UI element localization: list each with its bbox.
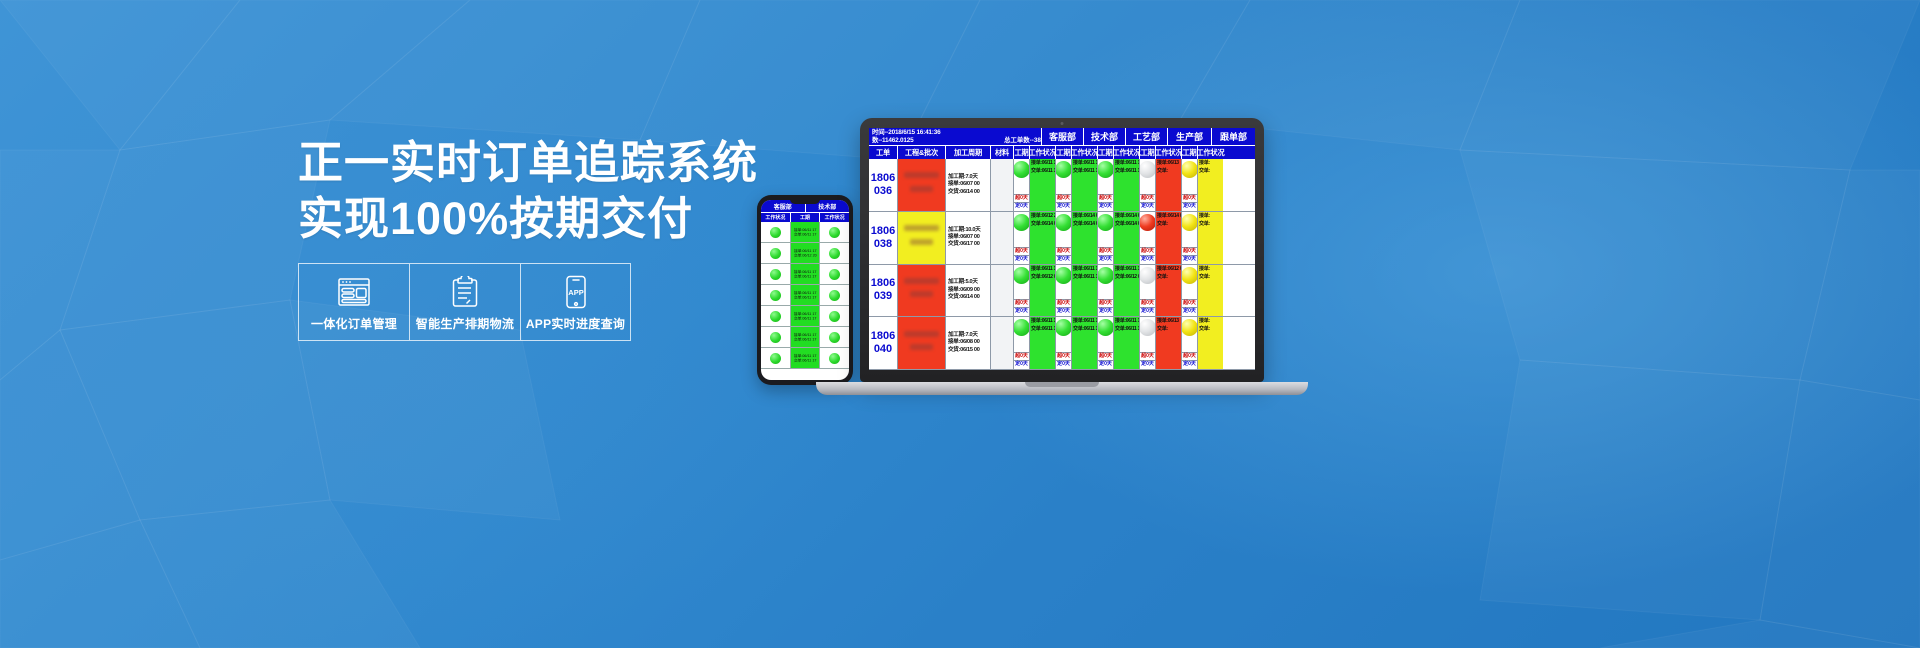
order-number-cell: 1806036	[869, 159, 897, 211]
table-row[interactable]: 1806036加工期:7.0天接单:06/07 00交货:06/14 00超0天…	[869, 159, 1255, 212]
status-dot	[829, 311, 840, 322]
feature-item-production-scheduling[interactable]: 智能生产排期物流	[409, 263, 520, 341]
work-deliver: 交单:06/12 09	[1031, 274, 1054, 281]
clipboard-checklist-icon	[450, 275, 480, 309]
phone-status-cell-2	[820, 327, 849, 348]
project-batch-cell	[897, 265, 945, 317]
work-status-cell-生产部: 接单:06/12 09交单:	[1155, 265, 1181, 317]
fixed-days-tag: 定0天	[1014, 255, 1029, 263]
status-dot	[770, 311, 781, 322]
work-status-cell-技术部: 接单:06/11 17交单:06/11 17	[1071, 317, 1097, 369]
fixed-days-tag: 定0天	[1182, 307, 1197, 315]
material-cell	[990, 317, 1013, 369]
feature-label: 智能生产排期物流	[416, 315, 514, 332]
work-receive: 接单:06/14 04	[1115, 213, 1138, 220]
receive-date: 接单:06/08 00	[948, 339, 990, 346]
work-receive: 接单:06/12 20	[1031, 213, 1054, 220]
phone-screen: 客服部 技术部 工作状况 工期 工作状况 接单:06/11 17交单:06/11…	[761, 200, 849, 380]
status-indicator-yellow	[1181, 161, 1197, 178]
work-receive: 接单:06/11 17	[1073, 266, 1096, 273]
status-tags: 超0天定0天	[1140, 247, 1155, 263]
webcam-icon	[1061, 122, 1064, 125]
status-cell-工艺部: 超0天定0天	[1097, 265, 1113, 317]
work-status-cell-生产部: 接单:06/13交单:	[1155, 159, 1181, 211]
work-deliver: 交单:06/12 09	[1115, 274, 1138, 281]
phone-col-0: 工作状况	[761, 212, 791, 222]
work-deliver: 交单:	[1199, 326, 1222, 333]
fixed-days-tag: 定0天	[1056, 202, 1071, 210]
table-row[interactable]: 1806038加工期:10.0天接单:06/07 00交货:06/17 00超0…	[869, 212, 1255, 265]
status-indicator-green	[1055, 161, 1071, 178]
column-header-技术部-工作状况: 工作状况	[1071, 146, 1097, 159]
work-status-cell-生产部: 接单:06/14 06交单:	[1155, 212, 1181, 264]
dashboard-grid-body: 1806036加工期:7.0天接单:06/07 00交货:06/14 00超0天…	[869, 159, 1255, 370]
laptop-screen: 时间--2018/6/15 16:41:36 数--11462.0125 总工单…	[869, 128, 1255, 370]
project-batch-cell	[897, 212, 945, 264]
department-title-3: 生产部	[1167, 128, 1211, 145]
work-receive: 接单:06/14 06	[1157, 213, 1180, 220]
processing-cycle-cell: 加工期:7.0天接单:06/07 00交货:06/14 00	[945, 159, 990, 211]
status-tags: 超0天定0天	[1098, 299, 1113, 315]
status-tags: 超0天定0天	[1056, 352, 1071, 368]
status-dot	[770, 332, 781, 343]
status-cell-技术部: 超0天定0天	[1055, 212, 1071, 264]
work-receive: 接单:06/12 09	[1157, 266, 1180, 273]
over-days-tag: 超0天	[1014, 247, 1029, 255]
dashboard-column-headers: 工单工程&批次加工周期材料工期工作状况工期工作状况工期工作状况工期工作状况工期工…	[869, 145, 1255, 159]
over-days-tag: 超0天	[1140, 299, 1155, 307]
work-deliver: 交单:06/11 17	[1073, 326, 1096, 333]
phone-period-cell: 接单:06/11 17交单:06/12 20	[791, 243, 820, 264]
status-tags: 超0天定0天	[1182, 299, 1197, 315]
over-days-tag: 超0天	[1140, 352, 1155, 360]
phone-period-cell: 接单:06/11 17交单:06/11 17	[791, 264, 820, 285]
dashboard-total-wrap: 总工单数--38	[1004, 128, 1041, 145]
dashboard-meta: 时间--2018/6/15 16:41:36 数--11462.0125	[869, 128, 1004, 145]
fixed-days-tag: 定0天	[1140, 255, 1155, 263]
redacted-text	[910, 239, 933, 245]
work-deliver: 交单:	[1157, 274, 1180, 281]
work-deliver: 交单:	[1199, 168, 1222, 175]
feature-item-order-management[interactable]: 一体化订单管理	[298, 263, 409, 341]
status-cell-生产部: 超0天定0天	[1139, 212, 1155, 264]
status-indicator-green	[1097, 161, 1113, 178]
phone-note: 接单:06/11 17交单:06/11 17	[794, 332, 816, 341]
work-receive: 接单:06/11 17	[1031, 160, 1054, 167]
fixed-days-tag: 定0天	[1098, 202, 1113, 210]
work-deliver: 交单:	[1157, 168, 1180, 175]
material-cell	[990, 265, 1013, 317]
phone-note: 接单:06/11 17交单:06/11 17	[794, 269, 816, 278]
work-receive: 接单:06/13	[1157, 160, 1180, 167]
phone-status-cell	[761, 222, 790, 243]
fixed-days-tag: 定0天	[1014, 202, 1029, 210]
phone-period-cell: 接单:06/11 17交单:06/11 17	[791, 285, 820, 306]
column-header-工单: 工单	[869, 146, 897, 159]
status-cell-跟单部: 超0天定0天	[1181, 212, 1197, 264]
work-status-cell-跟单部: 接单:交单:	[1197, 212, 1223, 264]
status-indicator-gray	[1139, 319, 1155, 336]
work-receive: 接单:	[1199, 318, 1222, 325]
fixed-days-tag: 定0天	[1182, 360, 1197, 368]
status-cell-客服部: 超0天定0天	[1013, 212, 1029, 264]
status-tags: 超0天定0天	[1056, 247, 1071, 263]
fixed-days-tag: 定0天	[1098, 307, 1113, 315]
work-deliver: 交单:06/11 17	[1073, 274, 1096, 281]
table-row[interactable]: 1806039加工期:5.0天接单:06/09 00交货:06/14 00超0天…	[869, 265, 1255, 318]
work-status-cell-工艺部: 接单:06/11 17交单:06/11 17	[1113, 317, 1139, 369]
status-tags: 超0天定0天	[1014, 247, 1029, 263]
processing-cycle-cell: 加工期:5.0天接单:06/09 00交货:06/14 00	[945, 265, 990, 317]
over-days-tag: 超0天	[1098, 247, 1113, 255]
cycle-days: 加工期:5.0天	[948, 279, 990, 286]
status-cell-客服部: 超0天定0天	[1013, 317, 1029, 369]
status-cell-客服部: 超0天定0天	[1013, 159, 1029, 211]
mobile-app-icon: APP	[564, 275, 588, 309]
work-receive: 接单:06/11 17	[1073, 318, 1096, 325]
receive-date: 接单:06/09 00	[948, 287, 990, 294]
phone-status-cell	[761, 348, 790, 369]
status-dot	[770, 248, 781, 259]
status-indicator-green	[1013, 161, 1029, 178]
phone-status-column	[761, 222, 791, 369]
order-number-bottom: 039	[874, 290, 892, 303]
redacted-text	[904, 278, 939, 284]
fixed-days-tag: 定0天	[1056, 360, 1071, 368]
phone-note: 接单:06/11 17交单:06/11 17	[794, 227, 816, 236]
status-indicator-yellow	[1181, 267, 1197, 284]
status-dot	[770, 269, 781, 280]
status-dot	[770, 227, 781, 238]
over-days-tag: 超0天	[1056, 247, 1071, 255]
status-indicator-green	[1013, 214, 1029, 231]
fixed-days-tag: 定0天	[1056, 307, 1071, 315]
work-status-cell-客服部: 接单:06/11 17交单:06/11 17	[1029, 317, 1055, 369]
phone-status-cell	[761, 285, 790, 306]
phone-notch	[790, 199, 820, 204]
order-number-bottom: 036	[874, 185, 892, 198]
column-header-生产部-工期: 工期	[1139, 146, 1155, 159]
over-days-tag: 超0天	[1056, 352, 1071, 360]
status-dot	[829, 227, 840, 238]
status-tags: 超0天定0天	[1014, 194, 1029, 210]
cycle-days: 加工期:10.0天	[948, 227, 990, 234]
redacted-text	[910, 291, 933, 297]
status-dot	[829, 353, 840, 364]
work-receive: 接单:06/11 17	[1031, 318, 1054, 325]
feature-label: APP实时进度查询	[526, 315, 625, 332]
status-cell-生产部: 超0天定0天	[1139, 265, 1155, 317]
status-indicator-green	[1097, 267, 1113, 284]
redacted-text	[904, 225, 939, 231]
phone-status-cell-2	[820, 264, 849, 285]
status-tags: 超0天定0天	[1140, 194, 1155, 210]
column-header-客服部-工作状况: 工作状况	[1029, 146, 1055, 159]
column-header-跟单部-工作状况: 工作状况	[1197, 146, 1223, 159]
work-receive: 接单:06/13	[1157, 318, 1180, 325]
status-indicator-green	[1055, 319, 1071, 336]
work-deliver: 交单:06/14 06	[1115, 221, 1138, 228]
redacted-text	[904, 331, 939, 337]
phone-status-cell-2	[820, 306, 849, 327]
status-cell-工艺部: 超0天定0天	[1097, 212, 1113, 264]
status-indicator-red	[1139, 214, 1155, 231]
status-tags: 超0天定0天	[1098, 194, 1113, 210]
work-deliver: 交单:06/11 17	[1031, 168, 1054, 175]
status-cell-技术部: 超0天定0天	[1055, 159, 1071, 211]
department-title-1: 技术部	[1083, 128, 1125, 145]
phone-status-cell	[761, 243, 790, 264]
feature-label: 一体化订单管理	[311, 315, 397, 332]
work-status-cell-工艺部: 接单:06/14 04交单:06/14 06	[1113, 212, 1139, 264]
phone-period-cell: 接单:06/11 17交单:06/11 17	[791, 306, 820, 327]
work-deliver: 交单:06/11 17	[1031, 326, 1054, 333]
work-receive: 接单:06/11 17	[1115, 266, 1138, 273]
work-receive: 接单:	[1199, 213, 1222, 220]
work-status-cell-技术部: 接单:06/14 00交单:06/14 04	[1071, 212, 1097, 264]
phone-column-header: 工作状况 工期 工作状况	[761, 212, 849, 222]
work-receive: 接单:06/11 17	[1115, 160, 1138, 167]
laptop-mockup: 时间--2018/6/15 16:41:36 数--11462.0125 总工单…	[860, 118, 1308, 395]
over-days-tag: 超0天	[1014, 194, 1029, 202]
fixed-days-tag: 定0天	[1056, 255, 1071, 263]
status-cell-技术部: 超0天定0天	[1055, 265, 1071, 317]
material-cell	[990, 159, 1013, 211]
fixed-days-tag: 定0天	[1014, 360, 1029, 368]
status-tags: 超0天定0天	[1182, 352, 1197, 368]
work-receive: 接单:06/11 17	[1073, 160, 1096, 167]
fixed-days-tag: 定0天	[1098, 360, 1113, 368]
over-days-tag: 超0天	[1014, 352, 1029, 360]
status-tags: 超0天定0天	[1098, 247, 1113, 263]
redacted-text	[910, 186, 933, 192]
status-indicator-green	[1055, 214, 1071, 231]
work-status-cell-工艺部: 接单:06/11 17交单:06/11 17	[1113, 159, 1139, 211]
phone-col-2: 工作状况	[820, 212, 849, 222]
fixed-days-tag: 定0天	[1098, 255, 1113, 263]
work-status-cell-生产部: 接单:06/13交单:	[1155, 317, 1181, 369]
status-dot	[829, 332, 840, 343]
status-dot	[770, 290, 781, 301]
status-tags: 超0天定0天	[1014, 352, 1029, 368]
redacted-text	[910, 344, 933, 350]
status-cell-工艺部: 超0天定0天	[1097, 317, 1113, 369]
status-indicator-green	[1013, 319, 1029, 336]
deliver-date: 交货:06/15 00	[948, 347, 990, 354]
status-tags: 超0天定0天	[1014, 299, 1029, 315]
work-status-cell-技术部: 接单:06/11 17交单:06/11 17	[1071, 265, 1097, 317]
processing-cycle-cell: 加工期:7.0天接单:06/08 00交货:06/15 00	[945, 317, 990, 369]
phone-period-cell: 接单:06/11 17交单:06/11 17	[791, 222, 820, 243]
over-days-tag: 超0天	[1182, 299, 1197, 307]
redacted-text	[904, 172, 939, 178]
phone-period-cell: 接单:06/11 17交单:06/11 17	[791, 327, 820, 348]
column-header-材料: 材料	[990, 146, 1013, 159]
work-deliver: 交单:06/14 04	[1073, 221, 1096, 228]
deliver-date: 交货:06/14 00	[948, 294, 990, 301]
dashboard-time: 时间--2018/6/15 16:41:36	[872, 129, 1001, 137]
over-days-tag: 超0天	[1098, 299, 1113, 307]
dashboard-total-orders: 总工单数--38	[1004, 135, 1041, 144]
over-days-tag: 超0天	[1056, 194, 1071, 202]
status-tags: 超0天定0天	[1182, 247, 1197, 263]
work-deliver: 交单:06/11 17	[1073, 168, 1096, 175]
feature-item-app-progress-query[interactable]: APP APP实时进度查询	[520, 263, 631, 341]
order-number-top: 1806	[871, 225, 895, 238]
fixed-days-tag: 定0天	[1182, 255, 1197, 263]
work-status-cell-工艺部: 接单:06/11 17交单:06/12 09	[1113, 265, 1139, 317]
over-days-tag: 超0天	[1182, 247, 1197, 255]
over-days-tag: 超0天	[1056, 299, 1071, 307]
status-indicator-green	[1055, 267, 1071, 284]
work-receive: 接单:06/14 00	[1073, 213, 1096, 220]
dashboard-count: 数--11462.0125	[872, 137, 1001, 145]
status-indicator-yellow	[1181, 319, 1197, 336]
status-tags: 超0天定0天	[1056, 194, 1071, 210]
work-status-cell-客服部: 接单:06/11 17交单:06/11 17	[1029, 159, 1055, 211]
dashboard-layout-icon	[337, 275, 371, 309]
order-number-bottom: 038	[874, 238, 892, 251]
status-tags: 超0天定0天	[1140, 299, 1155, 315]
phone-status-cell	[761, 264, 790, 285]
order-number-bottom: 040	[874, 343, 892, 356]
work-status-cell-跟单部: 接单:交单:	[1197, 317, 1223, 369]
feature-list: 一体化订单管理 智能生产排期物流 APP APP实时进度查询	[298, 263, 631, 341]
status-dot	[829, 269, 840, 280]
status-indicator-gray	[1139, 161, 1155, 178]
work-deliver: 交单:06/14 00	[1031, 221, 1054, 228]
work-deliver: 交单:06/11 17	[1115, 326, 1138, 333]
status-indicator-green	[1013, 267, 1029, 284]
work-status-cell-客服部: 接单:06/11 17交单:06/12 09	[1029, 265, 1055, 317]
work-receive: 接单:06/11 17	[1031, 266, 1054, 273]
phone-note: 接单:06/11 17交单:06/11 17	[794, 290, 816, 299]
work-status-cell-客服部: 接单:06/12 20交单:06/14 00	[1029, 212, 1055, 264]
phone-grid-body: 接单:06/11 17交单:06/11 17接单:06/11 17交单:06/1…	[761, 222, 849, 369]
status-cell-工艺部: 超0天定0天	[1097, 159, 1113, 211]
phone-status-cell	[761, 306, 790, 327]
order-number-top: 1806	[871, 330, 895, 343]
status-tags: 超0天定0天	[1182, 194, 1197, 210]
fixed-days-tag: 定0天	[1140, 307, 1155, 315]
status-cell-跟单部: 超0天定0天	[1181, 265, 1197, 317]
phone-col-1: 工期	[791, 212, 821, 222]
status-indicator-green	[1097, 214, 1113, 231]
table-row[interactable]: 1806040加工期:7.0天接单:06/08 00交货:06/15 00超0天…	[869, 317, 1255, 370]
headline-line-1: 正一实时订单追踪系统	[298, 136, 918, 190]
column-header-工程&批次: 工程&批次	[897, 146, 945, 159]
dashboard-title-bar: 时间--2018/6/15 16:41:36 数--11462.0125 总工单…	[869, 128, 1255, 145]
over-days-tag: 超0天	[1014, 299, 1029, 307]
project-batch-cell	[897, 317, 945, 369]
work-deliver: 交单:06/11 17	[1115, 168, 1138, 175]
status-indicator-green	[1097, 319, 1113, 336]
department-title-2: 工艺部	[1125, 128, 1167, 145]
phone-status-cell-2	[820, 222, 849, 243]
status-cell-技术部: 超0天定0天	[1055, 317, 1071, 369]
fixed-days-tag: 定0天	[1014, 307, 1029, 315]
order-tracking-dashboard: 时间--2018/6/15 16:41:36 数--11462.0125 总工单…	[869, 128, 1255, 370]
column-header-客服部-工期: 工期	[1013, 146, 1029, 159]
svg-text:APP: APP	[568, 288, 583, 297]
over-days-tag: 超0天	[1098, 352, 1113, 360]
fixed-days-tag: 定0天	[1140, 202, 1155, 210]
phone-note: 接单:06/11 17交单:06/11 17	[794, 353, 816, 362]
column-header-工艺部-工期: 工期	[1097, 146, 1113, 159]
column-header-工艺部-工作状况: 工作状况	[1113, 146, 1139, 159]
work-deliver: 交单:	[1157, 221, 1180, 228]
over-days-tag: 超0天	[1140, 194, 1155, 202]
fixed-days-tag: 定0天	[1140, 360, 1155, 368]
work-status-cell-技术部: 接单:06/11 17交单:06/11 17	[1071, 159, 1097, 211]
department-title-4: 跟单部	[1211, 128, 1255, 145]
status-cell-生产部: 超0天定0天	[1139, 317, 1155, 369]
status-dot	[770, 353, 781, 364]
phone-status-cell-2	[820, 348, 849, 369]
phone-status-cell	[761, 327, 790, 348]
column-header-技术部-工期: 工期	[1055, 146, 1071, 159]
status-cell-生产部: 超0天定0天	[1139, 159, 1155, 211]
fixed-days-tag: 定0天	[1182, 202, 1197, 210]
phone-status-cell-2	[820, 285, 849, 306]
department-title-0: 客服部	[1041, 128, 1083, 145]
column-header-生产部-工作状况: 工作状况	[1155, 146, 1181, 159]
phone-status-cell-2	[820, 243, 849, 264]
order-number-top: 1806	[871, 277, 895, 290]
status-dot	[829, 290, 840, 301]
order-number-cell: 1806040	[869, 317, 897, 369]
status-cell-跟单部: 超0天定0天	[1181, 159, 1197, 211]
material-cell	[990, 212, 1013, 264]
phone-note: 接单:06/11 17交单:06/11 17	[794, 311, 816, 320]
work-receive: 接单:	[1199, 160, 1222, 167]
column-header-跟单部-工期: 工期	[1181, 146, 1197, 159]
work-status-cell-跟单部: 接单:交单:	[1197, 265, 1223, 317]
status-tags: 超0天定0天	[1098, 352, 1113, 368]
over-days-tag: 超0天	[1140, 247, 1155, 255]
deliver-date: 交货:06/14 00	[948, 189, 990, 196]
work-receive: 接单:	[1199, 266, 1222, 273]
work-receive: 接单:06/11 17	[1115, 318, 1138, 325]
status-dot	[829, 248, 840, 259]
phone-period-column: 接单:06/11 17交单:06/11 17接单:06/11 17交单:06/1…	[791, 222, 821, 369]
laptop-lid: 时间--2018/6/15 16:41:36 数--11462.0125 总工单…	[860, 118, 1264, 382]
work-deliver: 交单:	[1157, 326, 1180, 333]
dashboard-dept-title-row: 客服部技术部工艺部生产部跟单部	[1041, 128, 1255, 145]
receive-date: 接单:06/07 00	[948, 181, 990, 188]
over-days-tag: 超0天	[1182, 352, 1197, 360]
order-number-cell: 1806039	[869, 265, 897, 317]
status-tags: 超0天定0天	[1140, 352, 1155, 368]
column-header-加工周期: 加工周期	[945, 146, 990, 159]
work-deliver: 交单:	[1199, 221, 1222, 228]
processing-cycle-cell: 加工期:10.0天接单:06/07 00交货:06/17 00	[945, 212, 990, 264]
order-number-cell: 1806038	[869, 212, 897, 264]
phone-note: 接单:06/11 17交单:06/12 20	[794, 248, 817, 257]
over-days-tag: 超0天	[1098, 194, 1113, 202]
status-indicator-gray	[1139, 267, 1155, 284]
project-batch-cell	[897, 159, 945, 211]
status-tags: 超0天定0天	[1056, 299, 1071, 315]
work-deliver: 交单:	[1199, 274, 1222, 281]
status-indicator-yellow	[1181, 214, 1197, 231]
over-days-tag: 超0天	[1182, 194, 1197, 202]
laptop-base	[816, 382, 1308, 395]
deliver-date: 交货:06/17 00	[948, 241, 990, 248]
work-status-cell-跟单部: 接单:交单:	[1197, 159, 1223, 211]
phone-status-column-2	[820, 222, 849, 369]
smartphone-mockup: 客服部 技术部 工作状况 工期 工作状况 接单:06/11 17交单:06/11…	[757, 195, 853, 385]
